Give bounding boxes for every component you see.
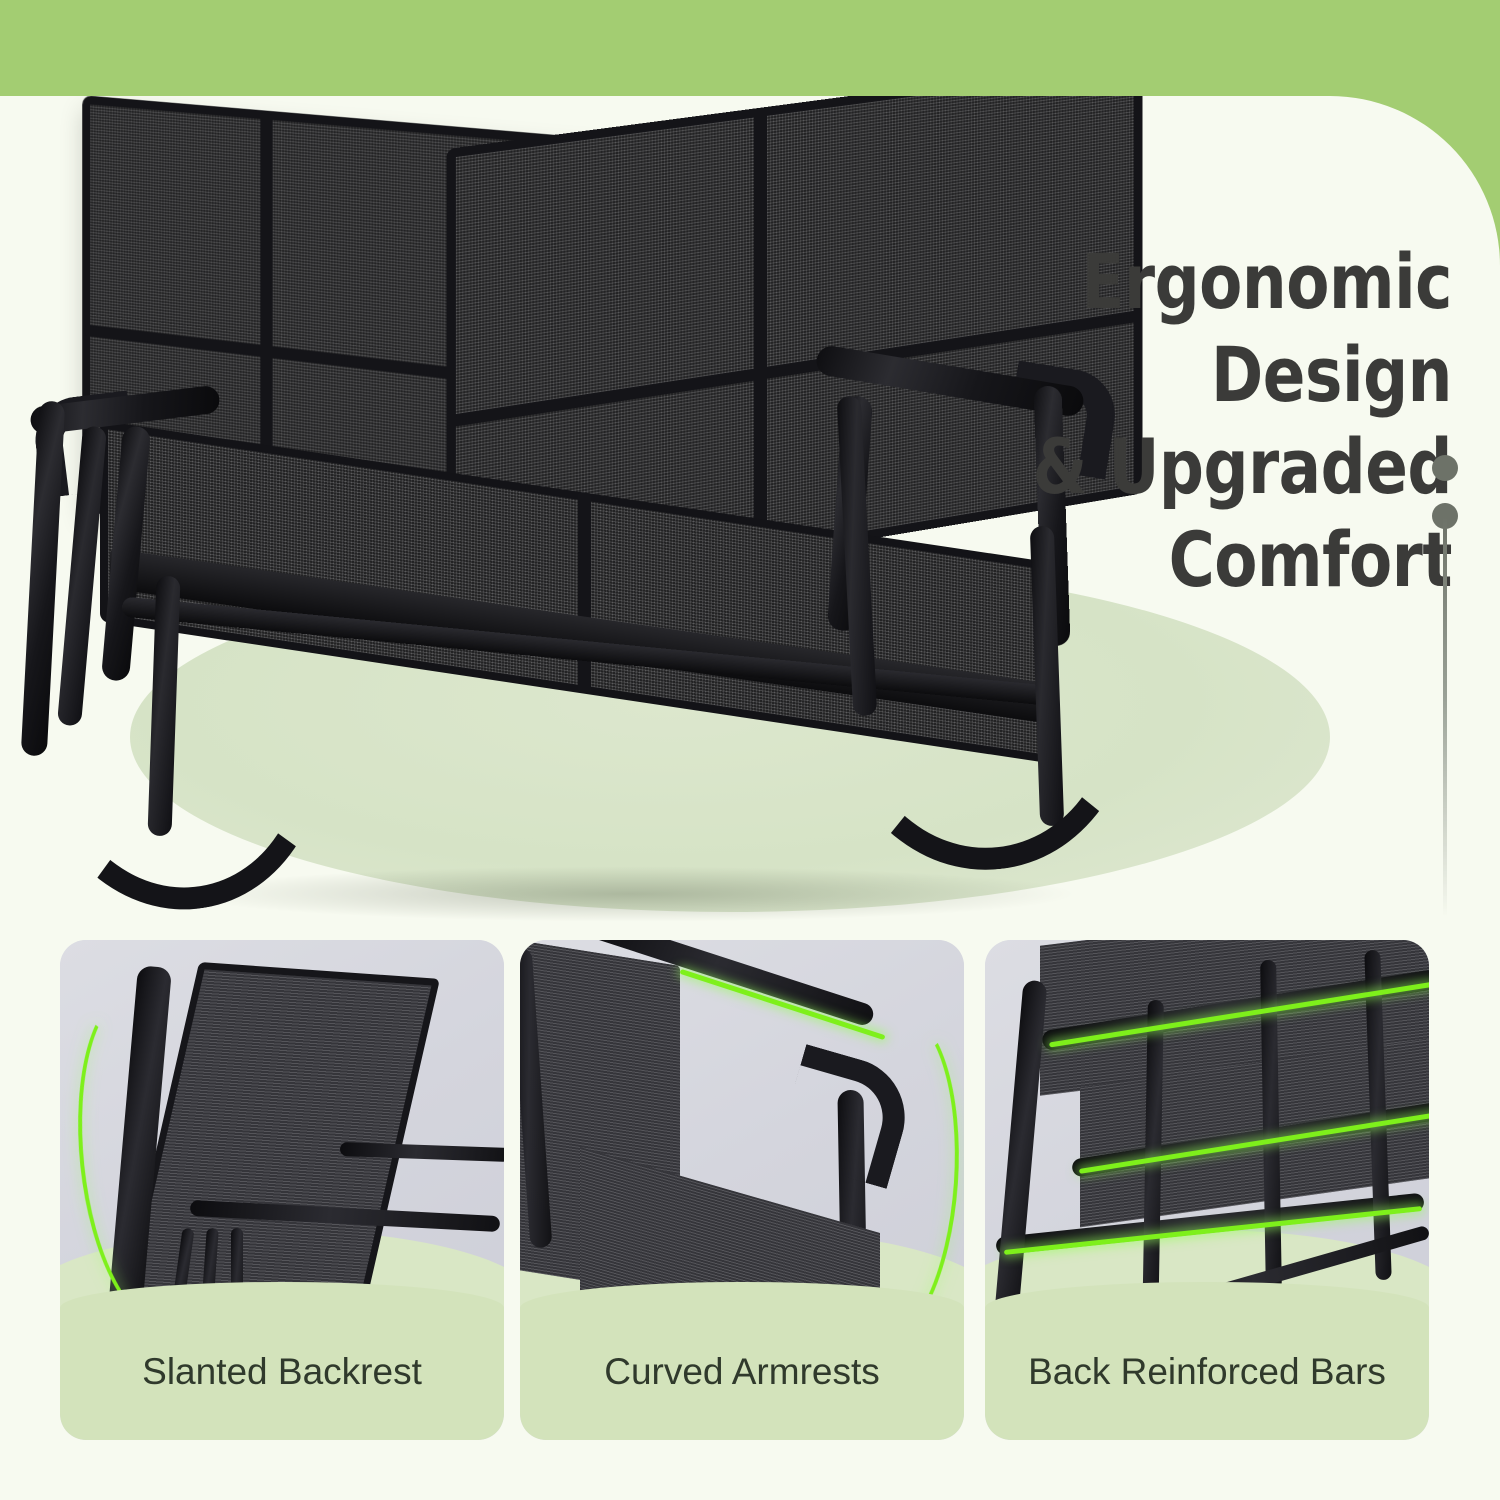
feature-caption: Slanted Backrest — [60, 1310, 504, 1440]
feature-caption: Back Reinforced Bars — [985, 1310, 1429, 1440]
hero-panel: Ergonomic Design & Upgraded Comfort — [0, 96, 1500, 932]
product-feature-graphic: Ergonomic Design & Upgraded Comfort Slan… — [0, 0, 1500, 1500]
feature-card-back-reinforced-bars: Back Reinforced Bars — [985, 940, 1429, 1440]
pin-line — [1443, 517, 1447, 917]
feature-caption: Curved Armrests — [520, 1310, 964, 1440]
feature-card-curved-armrests: Curved Armrests — [520, 940, 964, 1440]
feature-photo-curved-armrests — [520, 940, 964, 1310]
page-title: Ergonomic Design & Upgraded Comfort — [845, 236, 1452, 607]
decorative-pin — [1428, 455, 1462, 925]
feature-card-slanted-backrest: Slanted Backrest — [60, 940, 504, 1440]
top-green-band — [0, 0, 1500, 96]
feature-card-row: Slanted Backrest Curved Armrests — [0, 940, 1500, 1460]
pin-dot-upper-icon — [1432, 455, 1458, 481]
feature-photo-slanted-backrest — [60, 940, 504, 1310]
feature-photo-back-reinforced-bars — [985, 940, 1429, 1310]
